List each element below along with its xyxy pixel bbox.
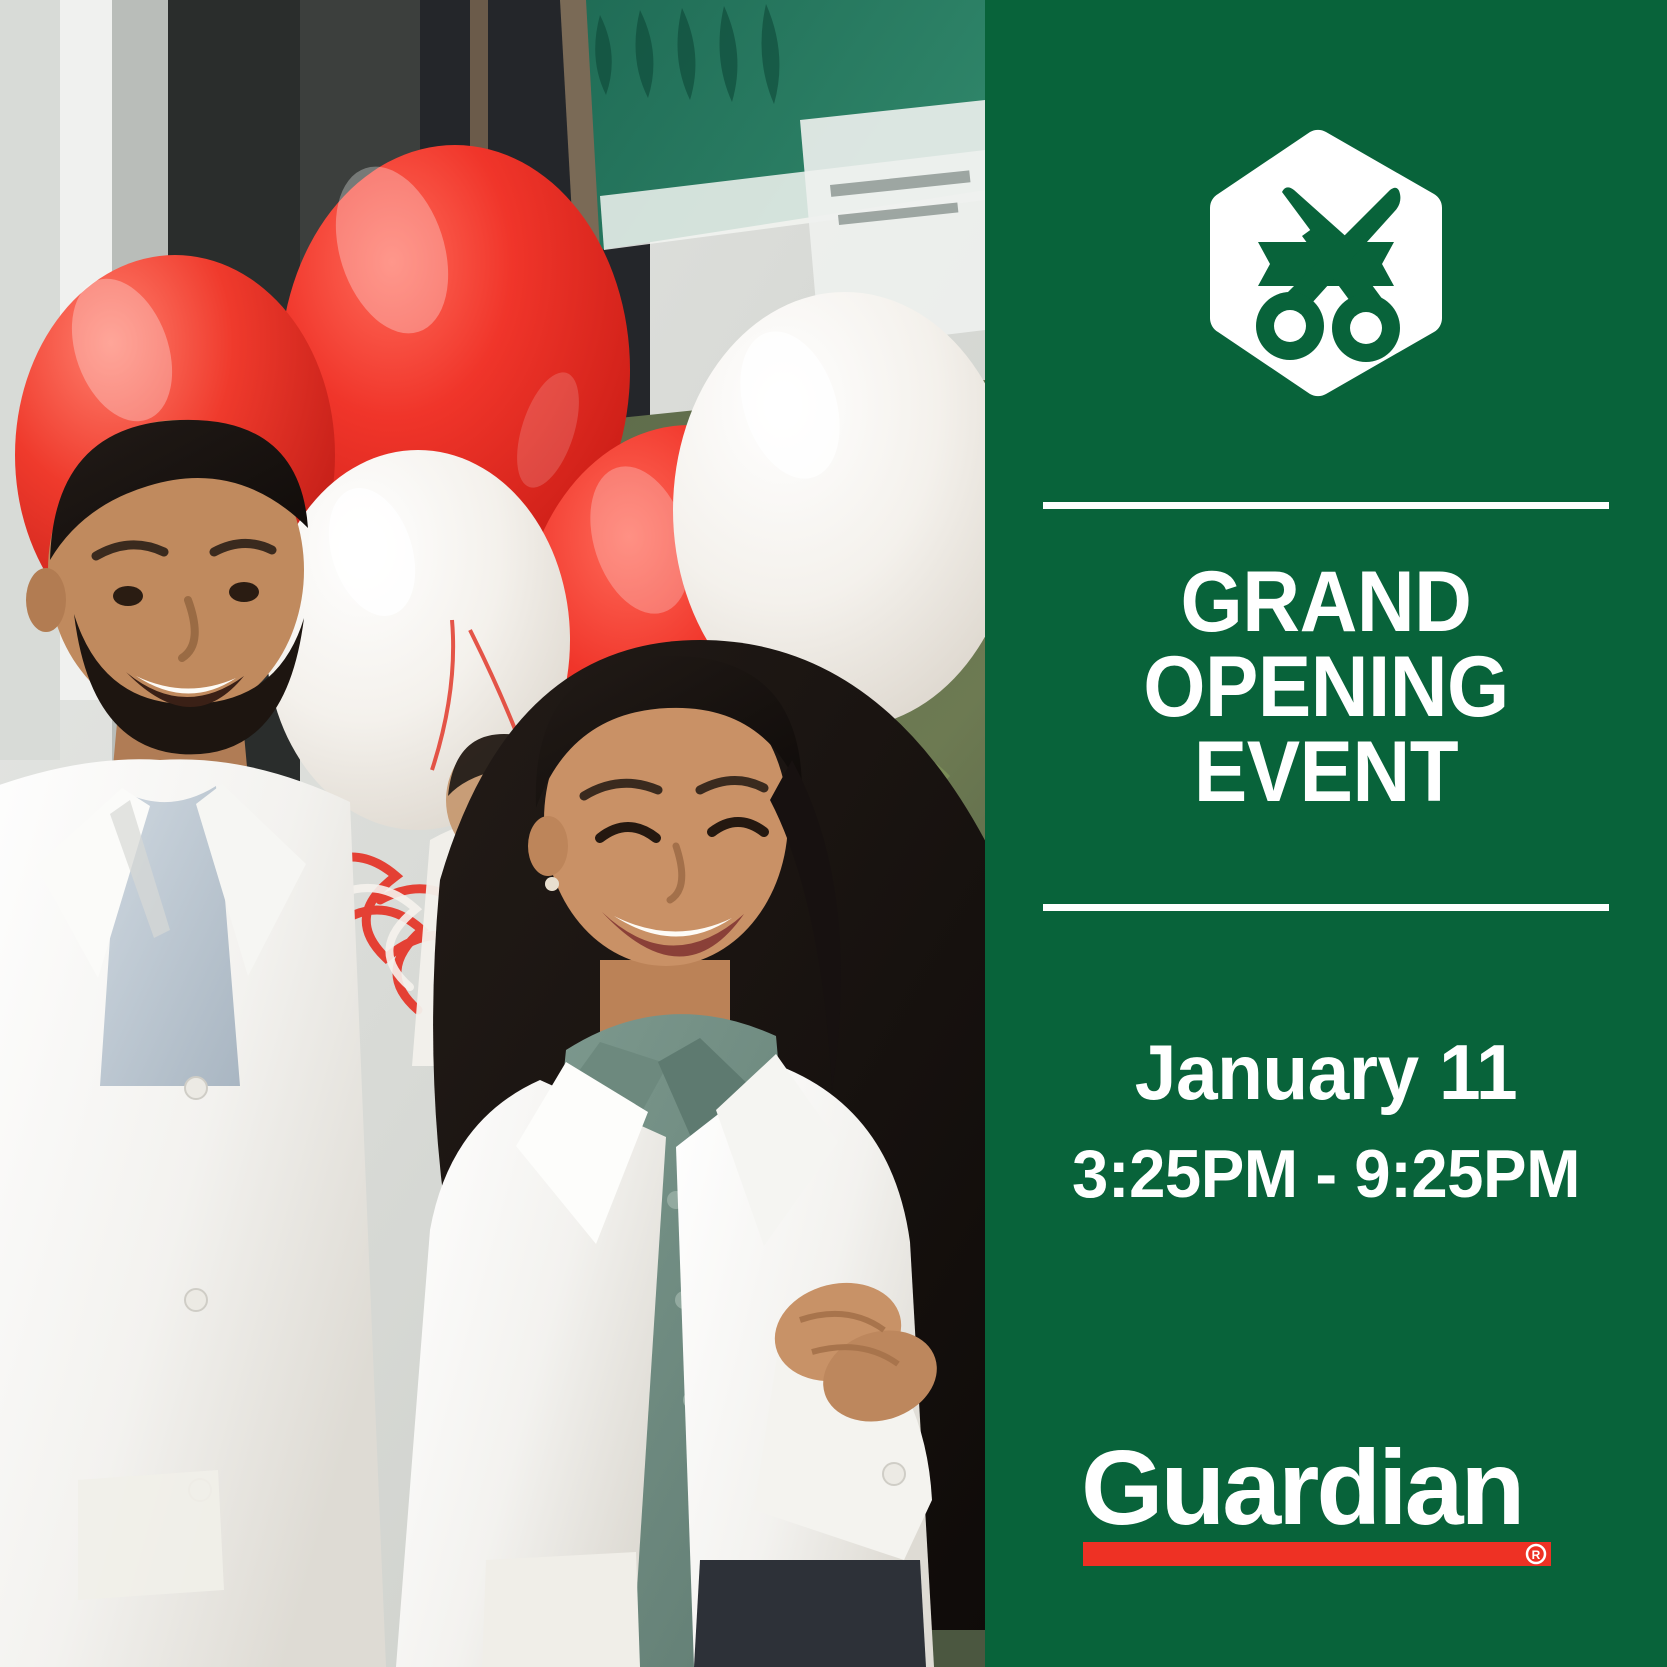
event-date: January 11 — [999, 1030, 1654, 1114]
divider-top — [1043, 502, 1609, 509]
photo-illustration — [0, 0, 985, 1667]
ribbon-cutting-scissors-hexagon-icon — [1206, 128, 1446, 398]
event-photo — [0, 0, 985, 1667]
svg-text:Guardian: Guardian — [1081, 1432, 1522, 1547]
headline-line-1: GRAND — [1009, 560, 1643, 645]
grand-opening-poster: GRAND OPENING EVENT January 11 3:25PM - … — [0, 0, 1667, 1667]
event-time: 3:25PM - 9:25PM — [999, 1138, 1654, 1211]
logo-underline-bar — [1083, 1542, 1551, 1566]
info-panel: GRAND OPENING EVENT January 11 3:25PM - … — [985, 0, 1667, 1667]
event-schedule: January 11 3:25PM - 9:25PM — [985, 1030, 1667, 1212]
page-title: GRAND OPENING EVENT — [1009, 560, 1643, 815]
svg-text:R: R — [1532, 1548, 1541, 1562]
headline-line-3: EVENT — [1009, 730, 1643, 815]
headline-line-2: OPENING — [1009, 645, 1643, 730]
guardian-logo: Guardian R — [1081, 1432, 1553, 1582]
female-pharmacist — [396, 640, 985, 1667]
divider-bottom — [1043, 904, 1609, 911]
